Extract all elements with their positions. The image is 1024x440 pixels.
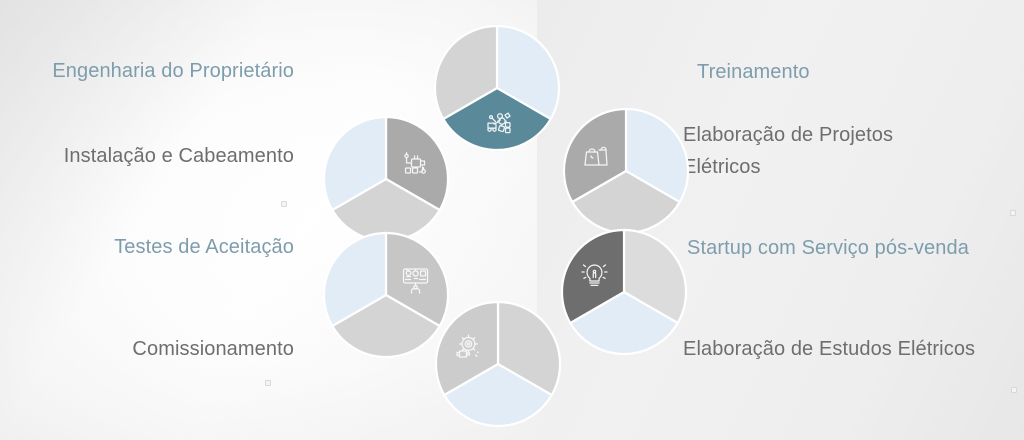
circle-instalacao-e-cabeamento[interactable] xyxy=(322,115,450,243)
circle-testes-de-aceitacao[interactable] xyxy=(322,231,450,359)
process-label-right-2: Startup com Serviço pós-venda xyxy=(687,232,1021,264)
process-label-right-0: Treinamento xyxy=(697,56,1017,88)
circle-elaboracao-de-projetos-eletricos[interactable] xyxy=(562,107,690,235)
process-label-left-0: Engenharia do Proprietário xyxy=(8,55,294,87)
process-label-left-1: Instalação e Cabeamento xyxy=(4,140,294,172)
circle-comissionamento[interactable] xyxy=(434,300,562,428)
textbox-handle-dot-0 xyxy=(281,201,287,207)
process-label-left-2: Testes de Aceitação xyxy=(4,231,294,263)
process-label-right-1: Elaboração de Projetos Elétricos xyxy=(683,119,1013,183)
textbox-handle-dot-1 xyxy=(265,380,271,386)
process-label-left-3: Comissionamento xyxy=(4,333,294,365)
circle-treinamento[interactable] xyxy=(433,24,561,152)
process-label-right-3: Elaboração de Estudos Elétricos xyxy=(683,333,1023,365)
circle-startup-com-servico-pos-venda[interactable] xyxy=(560,228,688,356)
textbox-handle-dot-2 xyxy=(1010,210,1016,216)
infographic-slide: Engenharia do ProprietárioInstalação e C… xyxy=(0,0,1024,440)
textbox-handle-dot-3 xyxy=(1011,387,1017,393)
